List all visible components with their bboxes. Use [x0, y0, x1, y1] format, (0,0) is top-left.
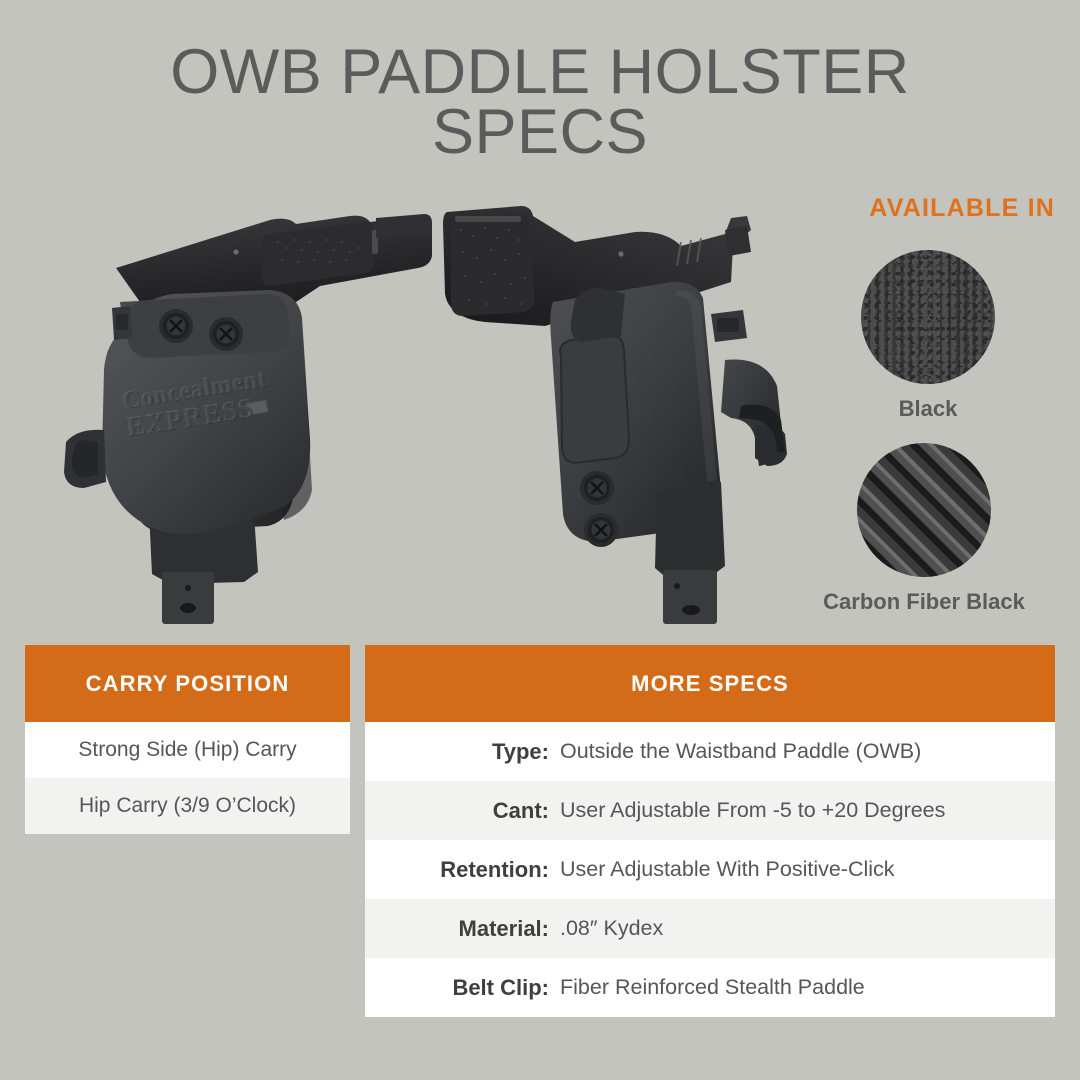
- table-row: Belt Clip: Fiber Reinforced Stealth Padd…: [365, 958, 1055, 1017]
- black-swatch[interactable]: [861, 250, 995, 384]
- carbon-fiber-black-swatch-label: Carbon Fiber Black: [777, 589, 1071, 615]
- page-title: OWB PADDLE HOLSTER SPECS: [0, 42, 1080, 162]
- carry-position-value: Hip Carry (3/9 O’Clock): [79, 794, 296, 818]
- swatch-black-group[interactable]: Black: [861, 250, 995, 422]
- holster-shell-front-image: [425, 190, 835, 630]
- spec-label: Type:: [365, 739, 560, 765]
- carry-position-table: CARRY POSITION Strong Side (Hip) Carry H…: [25, 645, 350, 834]
- available-in-heading: AVAILABLE IN: [869, 194, 1055, 223]
- spec-label: Belt Clip:: [365, 975, 560, 1001]
- spec-label: Cant:: [365, 798, 560, 824]
- carbon-fiber-black-swatch[interactable]: [857, 443, 991, 577]
- table-row: Material: .08″ Kydex: [365, 899, 1055, 958]
- spec-value: Outside the Waistband Paddle (OWB): [560, 739, 921, 764]
- table-row: Type: Outside the Waistband Paddle (OWB): [365, 722, 1055, 781]
- spec-label: Retention:: [365, 857, 560, 883]
- holster-paddle-side-image: Concealment EXPRESS Concealment EXPRESS: [20, 190, 440, 630]
- table-row: Cant: User Adjustable From -5 to +20 Deg…: [365, 781, 1055, 840]
- spec-value: .08″ Kydex: [560, 916, 663, 941]
- table-row: Strong Side (Hip) Carry: [25, 722, 350, 778]
- black-swatch-label: Black: [861, 396, 995, 422]
- spec-value: Fiber Reinforced Stealth Paddle: [560, 975, 865, 1000]
- table-row: Hip Carry (3/9 O’Clock): [25, 778, 350, 834]
- product-image-stage: Concealment EXPRESS Concealment EXPRESS: [0, 180, 830, 640]
- more-specs-header: MORE SPECS: [365, 645, 1055, 722]
- carry-position-value: Strong Side (Hip) Carry: [78, 738, 296, 762]
- spec-value: User Adjustable From -5 to +20 Degrees: [560, 798, 945, 823]
- spec-label: Material:: [365, 916, 560, 942]
- table-row: Retention: User Adjustable With Positive…: [365, 840, 1055, 899]
- carry-position-header: CARRY POSITION: [25, 645, 350, 722]
- page-title-line-2: SPECS: [0, 102, 1080, 162]
- more-specs-table: MORE SPECS Type: Outside the Waistband P…: [365, 645, 1055, 1017]
- spec-value: User Adjustable With Positive-Click: [560, 857, 895, 882]
- swatch-carbon-fiber-group[interactable]: Carbon Fiber Black: [857, 443, 991, 615]
